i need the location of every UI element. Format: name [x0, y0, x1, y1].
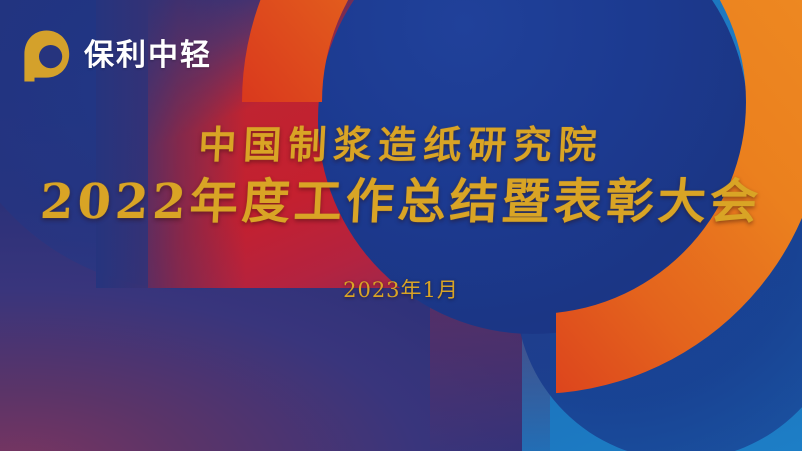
brand-name: 保利中轻: [84, 41, 212, 71]
brand-logo: 保利中轻: [22, 30, 212, 82]
presentation-title-slide: 保利中轻 中国制浆造纸研究院 2022年度工作总结暨表彰大会 2023年1月: [0, 0, 802, 451]
event-date: 2023年1月: [0, 274, 802, 304]
orange-crescent-ring: [236, 0, 802, 400]
poly-p-monogram-icon: [22, 30, 70, 82]
